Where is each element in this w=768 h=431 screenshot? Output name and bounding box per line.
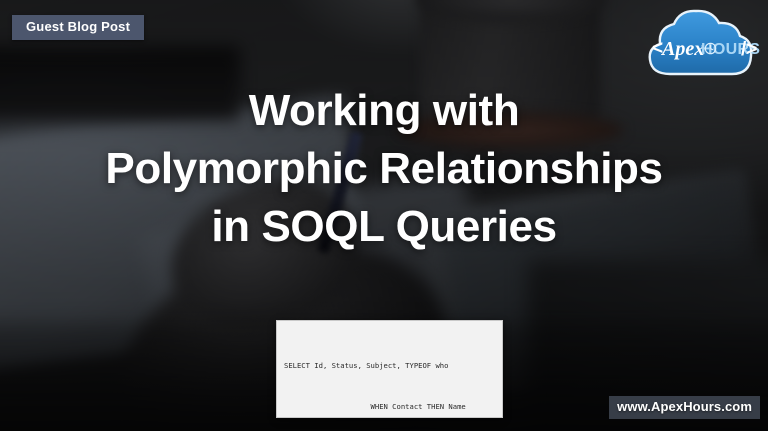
page-title: Working with Polymorphic Relationships i… (0, 82, 768, 256)
website-url[interactable]: www.ApexHours.com (609, 396, 760, 419)
soql-code-box: SELECT Id, Status, Subject, TYPEOF who W… (276, 320, 503, 418)
title-line-1: Working with (0, 82, 768, 140)
apex-hours-logo[interactable]: < Apex HOURS /> (640, 4, 760, 82)
code-line: WHEN Contact THEN Name (284, 400, 496, 414)
cloud-icon: < Apex HOURS /> (640, 4, 760, 82)
code-line: SELECT Id, Status, Subject, TYPEOF who (284, 359, 496, 373)
title-line-3: in SOQL Queries (0, 198, 768, 256)
soql-code-content: SELECT Id, Status, Subject, TYPEOF who W… (277, 321, 502, 418)
logo-bracket-close: /> (741, 39, 757, 60)
title-line-2: Polymorphic Relationships (0, 140, 768, 198)
logo-name-script: Apex (660, 38, 704, 60)
guest-blog-post-badge: Guest Blog Post (12, 15, 144, 40)
blog-banner: Guest Blog Post Working with Polymorphic… (0, 0, 768, 431)
